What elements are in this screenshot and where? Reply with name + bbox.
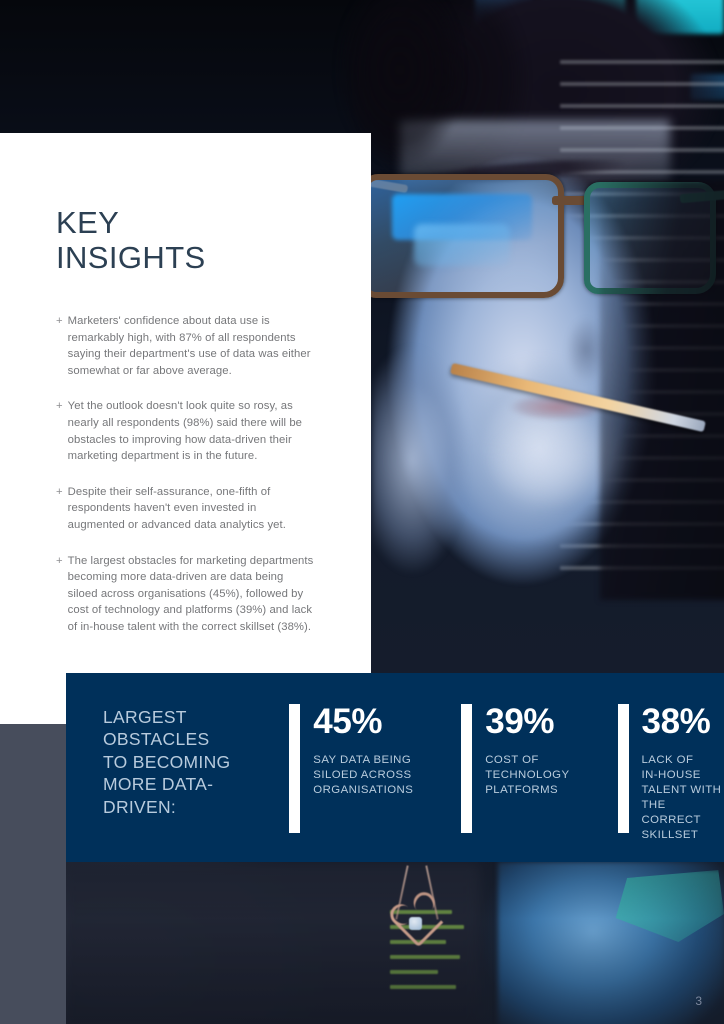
stat-value: 39%: [485, 704, 569, 739]
photo-vignette: [0, 862, 724, 1024]
gray-sidebar-strip: [0, 724, 66, 1024]
bullet-plus-icon: +: [56, 398, 63, 464]
insights-list: + Marketers' confidence about data use i…: [56, 313, 315, 636]
stat-block: 39% COST OF TECHNOLOGY PLATFORMS: [461, 673, 569, 833]
screen-reflection: [414, 224, 510, 266]
list-item-text: The largest obstacles for marketing depa…: [68, 553, 315, 636]
stat-label: SAY DATA BEING SILOED ACROSS ORGANISATIO…: [313, 753, 413, 798]
hand-shape: [372, 300, 492, 600]
obstacles-stats-panel: LARGEST OBSTACLES TO BECOMING MORE DATA-…: [66, 673, 724, 862]
report-page: KEY INSIGHTS + Marketers' confidence abo…: [0, 0, 724, 1024]
list-item-text: Marketers' confidence about data use is …: [68, 313, 315, 379]
glasses-bridge: [552, 196, 586, 205]
stat-label: LACK OF IN-HOUSE TALENT WITH THE CORRECT…: [642, 753, 724, 843]
list-item: + Yet the outlook doesn't look quite so …: [56, 398, 315, 464]
list-item-text: Despite their self-assurance, one-fifth …: [68, 484, 315, 534]
list-item: + Despite their self-assurance, one-fift…: [56, 484, 315, 534]
stat-bar-accent: [461, 704, 472, 833]
list-item-text: Yet the outlook doesn't look quite so ro…: [68, 398, 315, 464]
stat-value: 38%: [642, 704, 724, 739]
list-item: + Marketers' confidence about data use i…: [56, 313, 315, 379]
page-title: KEY INSIGHTS: [56, 205, 315, 275]
key-insights-card: KEY INSIGHTS + Marketers' confidence abo…: [0, 133, 371, 724]
stat-block: 45% SAY DATA BEING SILOED ACROSS ORGANIS…: [289, 673, 413, 833]
glasses-lens-left: [362, 174, 564, 298]
stat-block: 38% LACK OF IN-HOUSE TALENT WITH THE COR…: [618, 673, 724, 843]
stat-value: 45%: [313, 704, 413, 739]
bullet-plus-icon: +: [56, 484, 63, 534]
stat-label: COST OF TECHNOLOGY PLATFORMS: [485, 753, 569, 798]
obstacles-title: LARGEST OBSTACLES TO BECOMING MORE DATA-…: [66, 673, 277, 818]
stat-bar-accent: [289, 704, 300, 833]
bullet-plus-icon: +: [56, 313, 63, 379]
hair-shape: [600, 180, 724, 600]
page-number: 3: [695, 994, 702, 1008]
stat-bar-accent: [618, 704, 629, 833]
bullet-plus-icon: +: [56, 553, 63, 636]
list-item: + The largest obstacles for marketing de…: [56, 553, 315, 636]
